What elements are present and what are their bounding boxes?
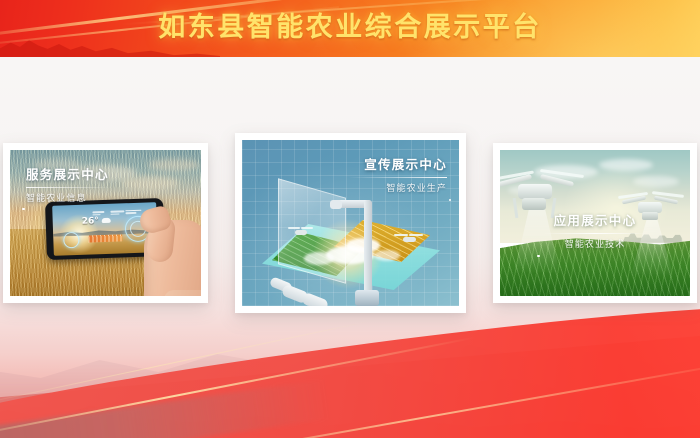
hud-data-bar	[92, 214, 100, 216]
hand-wrist	[164, 290, 201, 296]
hud-progress-bar-ticks	[89, 234, 123, 242]
app-root: 如东县智能农业综合展示平台 26°	[0, 0, 700, 438]
card-text-block: 宣传展示中心 智能农业生产	[349, 154, 447, 194]
card-promotion-display-center[interactable]: 宣传展示中心 智能农业生产	[235, 133, 466, 313]
hand-icon	[138, 186, 201, 296]
title-divider	[349, 177, 447, 178]
card-title: 服务展示中心	[26, 164, 112, 183]
card-service-display-center[interactable]: 26°	[3, 143, 208, 303]
header-banner: 如东县智能农业综合展示平台	[0, 0, 700, 57]
drone-rotor	[409, 234, 423, 236]
drone-leg	[513, 198, 519, 218]
hud-data-bar	[111, 210, 125, 212]
card-image-frame: 宣传展示中心 智能农业生产	[242, 140, 459, 306]
hud-data-bar	[111, 213, 120, 215]
dot-icon	[449, 199, 452, 202]
drone-body	[518, 184, 552, 199]
card-application-display-center[interactable]: 应用展示中心 智能农业技术	[493, 143, 697, 303]
card-subtitle: 智能农业信息	[26, 191, 112, 204]
card-title: 应用展示中心	[543, 210, 647, 229]
hud-data-bar	[92, 211, 104, 213]
drone-icon	[394, 232, 422, 244]
drone-icon	[288, 226, 312, 236]
card-subtitle: 智能农业生产	[349, 181, 447, 194]
cloud-icon	[101, 217, 110, 222]
drone-spray-tank	[522, 198, 546, 210]
street-light-icon	[330, 200, 342, 209]
drone-rotor	[288, 227, 300, 229]
dot-icon	[22, 208, 25, 211]
title-divider	[543, 233, 647, 234]
page-title: 如东县智能农业综合展示平台	[0, 6, 700, 50]
hud-data-bar	[125, 212, 136, 214]
card-image-frame: 应用展示中心 智能农业技术	[500, 150, 690, 296]
card-image-frame: 26°	[10, 150, 201, 296]
card-text-block: 应用展示中心 智能农业技术	[543, 210, 647, 250]
dot-icon	[537, 255, 540, 258]
card-subtitle: 智能农业技术	[543, 237, 647, 250]
street-light-base	[355, 290, 379, 306]
drone-body	[403, 237, 416, 242]
drone-rotor	[301, 227, 313, 229]
cloud-icon	[374, 250, 400, 261]
card-title: 宣传展示中心	[349, 154, 447, 173]
street-light-pole	[364, 200, 372, 296]
drone-body	[295, 230, 307, 235]
drone-rotor	[394, 234, 408, 236]
temperature-readout: 26°	[82, 216, 99, 227]
cloud-icon	[346, 238, 380, 253]
card-text-block: 服务展示中心 智能农业信息	[26, 164, 112, 204]
title-divider	[26, 187, 112, 188]
